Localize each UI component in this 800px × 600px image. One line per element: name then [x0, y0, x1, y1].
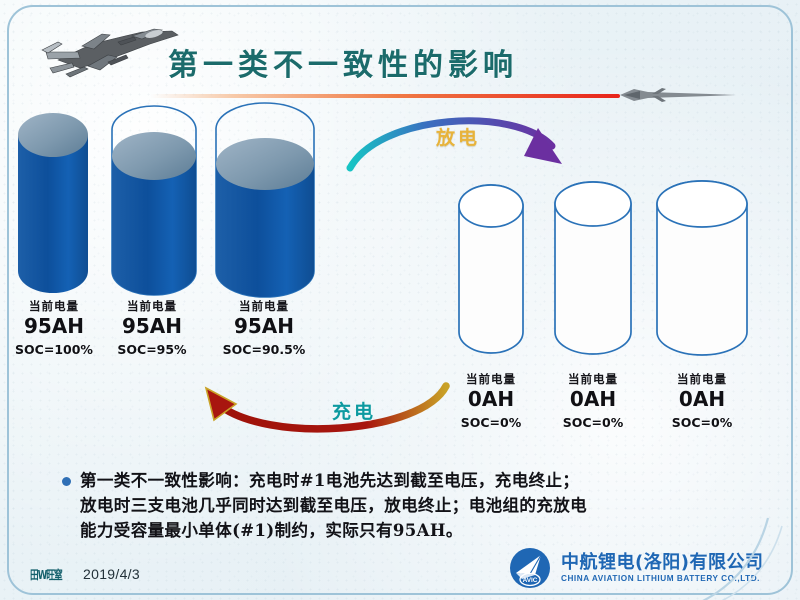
charged-soc-value-3: SOC=90.5%	[212, 342, 316, 358]
discharge-arrow-label: 放电	[436, 123, 480, 150]
avic-emblem-icon: AVIC	[508, 546, 552, 590]
charged-cap-label-3: 当前电量	[212, 299, 316, 313]
discharged-ah-value-2: 0AH	[547, 387, 639, 411]
footer-wordmark: 田W旺窒	[30, 566, 62, 583]
discharged-soc-value-2: SOC=0%	[547, 415, 639, 431]
page-title: 第一类不一致性的影响	[168, 40, 518, 84]
slide-canvas: 第一类不一致性的影响	[0, 0, 800, 600]
discharged-cap-label-3: 当前电量	[656, 372, 748, 386]
charged-soc-value-2: SOC=95%	[106, 342, 198, 358]
discharged-soc-value-1: SOC=0%	[445, 415, 537, 431]
footer-date: 2019/4/3	[83, 566, 140, 582]
body-line-3: 能力受容量最小单体(#1)制约，实际只有95AH。	[80, 518, 587, 543]
charged-cylinder-3	[212, 108, 318, 298]
charged-ah-value-1: 95AH	[8, 314, 100, 338]
missile-icon	[618, 86, 738, 104]
body-line-2: 放电时三支电池几乎同时达到截至电压，放电终止；电池组的充放电	[80, 493, 587, 518]
body-text-lines: 第一类不一致性影响：充电时#1电池先达到截至电压，充电终止； 放电时三支电池几乎…	[80, 468, 587, 543]
charged-cap-label-2: 当前电量	[106, 299, 198, 313]
charged-label-2: 当前电量 95AH SOC=95%	[106, 299, 198, 358]
body-text-block: 第一类不一致性影响：充电时#1电池先达到截至电压，充电终止； 放电时三支电池几乎…	[62, 468, 752, 543]
discharged-cap-label-2: 当前电量	[547, 372, 639, 386]
discharged-ah-value-3: 0AH	[656, 387, 748, 411]
charged-soc-value-1: SOC=100%	[8, 342, 100, 358]
charged-label-3: 当前电量 95AH SOC=90.5%	[212, 299, 316, 358]
discharged-label-3: 当前电量 0AH SOC=0%	[656, 372, 748, 431]
discharged-cap-label-1: 当前电量	[445, 372, 537, 386]
discharged-ah-value-1: 0AH	[445, 387, 537, 411]
charged-cylinder-1	[14, 108, 92, 298]
footer-left-group: 田W旺窒 2019/4/3	[30, 566, 140, 583]
svg-text:AVIC: AVIC	[523, 577, 538, 584]
discharged-label-2: 当前电量 0AH SOC=0%	[547, 372, 639, 431]
bullet-point-icon	[62, 477, 71, 486]
discharged-soc-value-3: SOC=0%	[656, 415, 748, 431]
charged-cylinder-2	[108, 108, 200, 298]
charge-arrow-label: 充电	[332, 397, 376, 424]
discharged-label-1: 当前电量 0AH SOC=0%	[445, 372, 537, 431]
company-logo: AVIC 中航锂电(洛阳)有限公司 CHINA AVIATION LITHIUM…	[508, 546, 763, 590]
title-underline	[150, 94, 620, 98]
charged-ah-value-2: 95AH	[106, 314, 198, 338]
company-name-cn: 中航锂电(洛阳)有限公司	[561, 552, 763, 573]
charge-arrow	[196, 382, 456, 444]
body-line-1: 第一类不一致性影响：充电时#1电池先达到截至电压，充电终止；	[80, 468, 587, 493]
company-name-en: CHINA AVIATION LITHIUM BATTERY CO.,LTD.	[561, 573, 763, 584]
discharged-cylinder-3	[653, 178, 751, 364]
charged-ah-value-3: 95AH	[212, 314, 316, 338]
charged-label-1: 当前电量 95AH SOC=100%	[8, 299, 100, 358]
fighter-jet-image	[22, 22, 192, 84]
discharged-cylinder-1	[455, 178, 527, 364]
discharged-cylinder-2	[551, 178, 635, 364]
charged-cap-label-1: 当前电量	[8, 299, 100, 313]
